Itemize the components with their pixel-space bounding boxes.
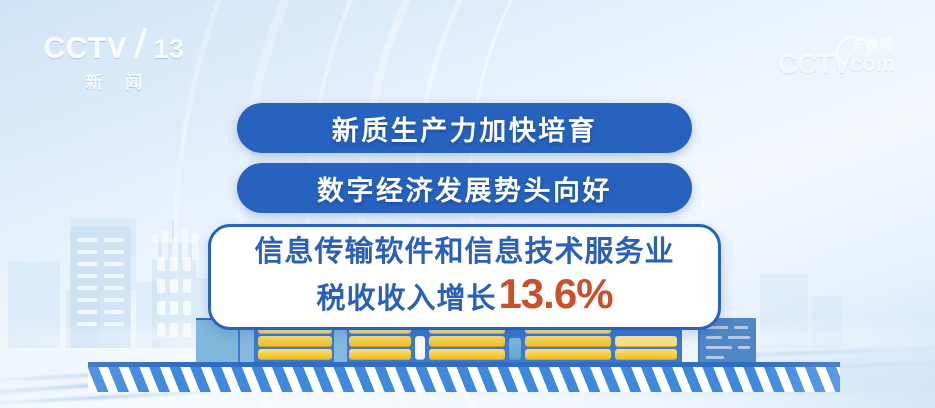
cctv13-wordmark: CCTV 13: [44, 28, 185, 64]
cctvcom-watermark: CCTV com 央视网: [778, 40, 910, 80]
statistic-panel-line1: 信息传输软件和信息技术服务业: [254, 237, 674, 269]
skyline-antenna: [172, 221, 174, 243]
container-stack: [615, 330, 677, 360]
ship-glass-panel: [334, 324, 347, 364]
cctv13-subtitle: 新 闻: [77, 68, 152, 93]
cctvcom-tld: com: [850, 53, 895, 75]
headline-banner-1-text: 新质生产力加快培育: [332, 109, 598, 148]
cctv13-number: 13: [153, 36, 184, 63]
statistic-panel: 信息传输软件和信息技术服务业 税收收入增长 13.6%: [208, 224, 721, 330]
decor-bar: [162, 230, 168, 260]
skyline-building: [812, 296, 842, 348]
container-stack: [509, 338, 521, 360]
cctvcom-brand: CCTV: [778, 50, 850, 78]
container-stack: [415, 336, 425, 360]
skyline-building: [70, 218, 136, 290]
cctv13-slash-icon: [130, 28, 152, 58]
skyline-building: [70, 228, 130, 348]
skyline-building: [136, 282, 160, 348]
broadcast-graphic: CCTV 13 新 闻 CCTV com 央视网 新质生产力加快培育 数字经济发…: [0, 0, 935, 408]
headline-banner-2: 数字经济发展势头向好: [237, 163, 692, 213]
decor-bar: [192, 233, 198, 260]
statistic-label: 税收收入增长: [316, 275, 496, 317]
statistic-panel-line2: 税收收入增长 13.6%: [316, 273, 612, 317]
skyline-tower: [71, 226, 131, 348]
cctv13-logo: CCTV 13 新 闻: [48, 34, 180, 86]
decor-bar: [152, 234, 158, 260]
skyline-building: [760, 274, 808, 348]
cctv13-mark-text: CCTV: [44, 34, 128, 64]
skyline-tower: [152, 243, 196, 348]
haze-band: [0, 395, 935, 408]
skyline-building: [8, 262, 60, 348]
skyline-building: [66, 290, 100, 348]
statistic-value: 13.6%: [498, 273, 612, 315]
dock-striped-band: [88, 362, 840, 392]
cctvcom-cn-name: 央视网: [852, 38, 894, 50]
headline-banner-1: 新质生产力加快培育: [237, 103, 692, 153]
decor-bar: [172, 238, 178, 260]
decor-bar: [182, 228, 188, 260]
headline-banner-2-text: 数字经济发展势头向好: [317, 169, 612, 208]
